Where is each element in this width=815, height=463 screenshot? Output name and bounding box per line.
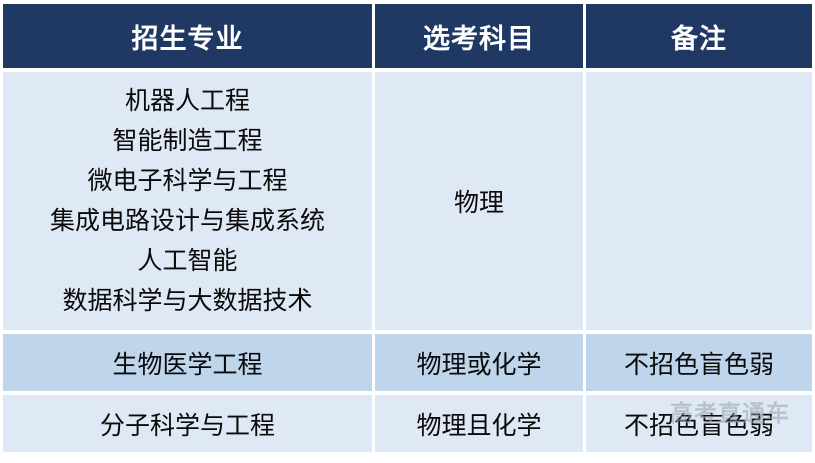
cell-subject: 物理且化学 [375,395,583,452]
header-cell-subject: 选考科目 [375,4,583,68]
table-header: 招生专业 选考科目 备注 [3,4,812,68]
table-row: 分子科学与工程 物理且化学 不招色盲色弱 [3,395,812,452]
admissions-table-container: 招生专业 选考科目 备注 机器人工程 智能制造工程 微电子科学与工程 集成电路设… [0,0,806,456]
header-cell-major: 招生专业 [3,4,372,68]
header-row: 招生专业 选考科目 备注 [3,4,812,68]
table-row: 机器人工程 智能制造工程 微电子科学与工程 集成电路设计与集成系统 人工智能 数… [3,72,812,330]
cell-major: 生物医学工程 [3,334,372,391]
header-cell-note: 备注 [586,4,812,68]
cell-subject: 物理或化学 [375,334,583,391]
cell-note: 不招色盲色弱 [586,334,812,391]
cell-subject: 物理 [375,72,583,330]
cell-note: 不招色盲色弱 [586,395,812,452]
table-body: 机器人工程 智能制造工程 微电子科学与工程 集成电路设计与集成系统 人工智能 数… [3,72,812,452]
major-list: 机器人工程 智能制造工程 微电子科学与工程 集成电路设计与集成系统 人工智能 数… [3,81,372,321]
admissions-table: 招生专业 选考科目 备注 机器人工程 智能制造工程 微电子科学与工程 集成电路设… [0,0,815,456]
table-row: 生物医学工程 物理或化学 不招色盲色弱 [3,334,812,391]
cell-major: 机器人工程 智能制造工程 微电子科学与工程 集成电路设计与集成系统 人工智能 数… [3,72,372,330]
cell-note [586,72,812,330]
cell-major: 分子科学与工程 [3,395,372,452]
